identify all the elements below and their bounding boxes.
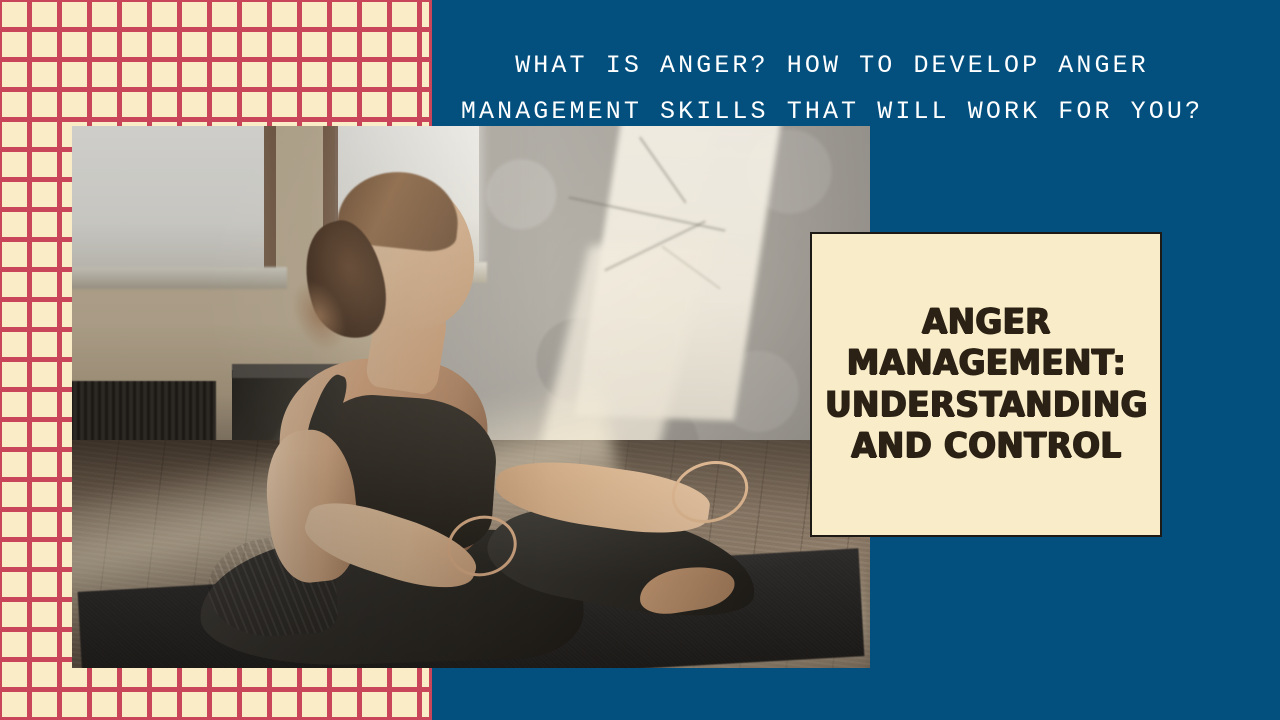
meditation-photo (72, 126, 870, 668)
title-card: ANGER MANAGEMENT: UNDERSTANDING AND CONT… (810, 232, 1162, 537)
photo-figure (72, 126, 870, 668)
slide-canvas: WHAT IS ANGER? HOW TO DEVELOP ANGER MANA… (0, 0, 1280, 720)
title-card-text: ANGER MANAGEMENT: UNDERSTANDING AND CONT… (819, 302, 1153, 467)
photo-inner (72, 126, 870, 668)
page-title: WHAT IS ANGER? HOW TO DEVELOP ANGER MANA… (432, 43, 1232, 136)
